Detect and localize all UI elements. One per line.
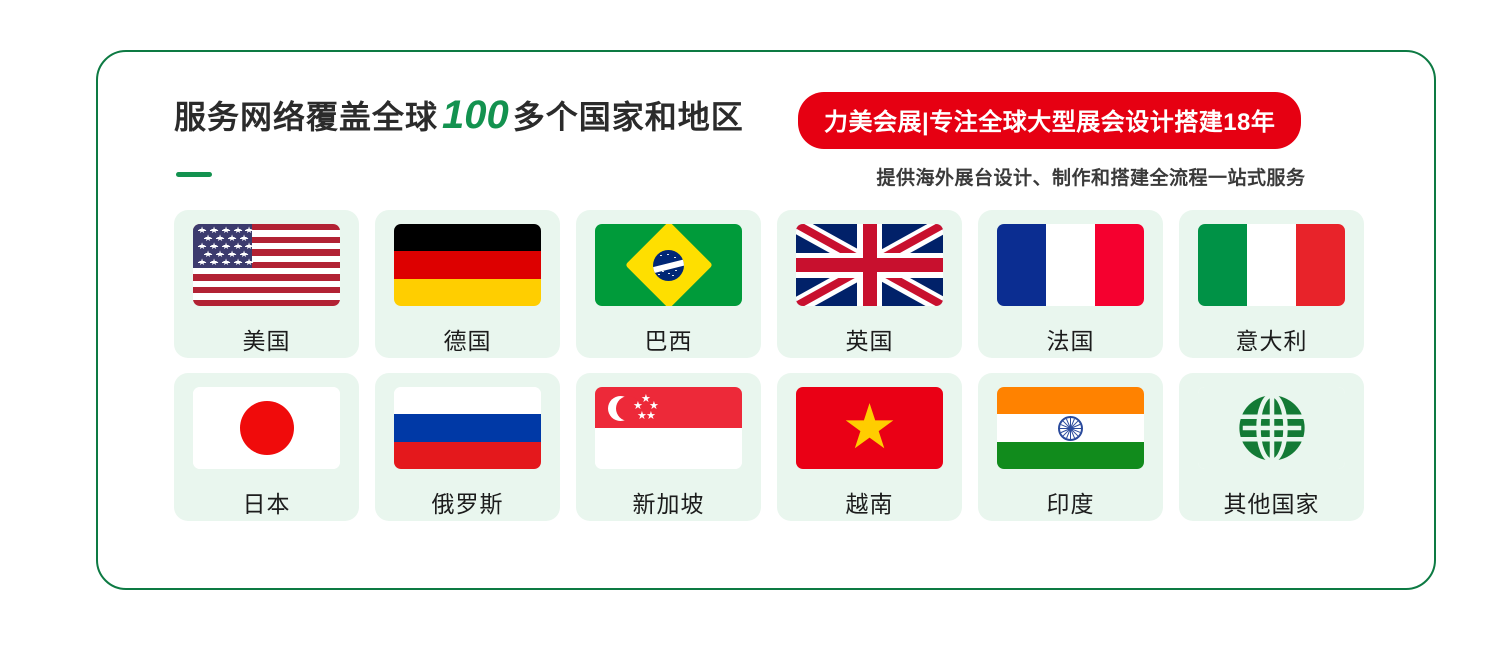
flag-india-icon (997, 387, 1144, 469)
info-panel: 服务网络覆盖全球100多个国家和地区 力美会展|专注全球大型展会设计搭建18年 … (96, 50, 1436, 590)
headline-prefix: 服务网络覆盖全球 (174, 99, 438, 135)
country-label: 巴西 (645, 322, 693, 356)
country-label: 德国 (444, 322, 492, 356)
panel-header: 服务网络覆盖全球100多个国家和地区 力美会展|专注全球大型展会设计搭建18年 … (98, 52, 1434, 202)
country-card-france[interactable]: 法国 (978, 210, 1163, 358)
accent-underline (176, 172, 212, 177)
globe-icon (1198, 387, 1345, 469)
country-label: 印度 (1047, 485, 1095, 519)
country-label: 日本 (243, 485, 291, 519)
flag-japan-icon (193, 387, 340, 469)
flag-italy-icon (1198, 224, 1345, 306)
country-card-brazil[interactable]: 巴西 (576, 210, 761, 358)
country-card-vietnam[interactable]: ★ 越南 (777, 373, 962, 521)
flag-vietnam-icon: ★ (796, 387, 943, 469)
flag-russia-icon (394, 387, 541, 469)
flag-uk-icon (796, 224, 943, 306)
flag-usa-icon: ★★★★★ ★★★★ ★★★★★ ★★★★ ★★★★★ (193, 224, 340, 306)
country-card-japan[interactable]: 日本 (174, 373, 359, 521)
headline-suffix: 多个国家和地区 (513, 99, 744, 135)
headline-number: 100 (438, 93, 513, 137)
country-label: 法国 (1047, 322, 1095, 356)
country-label: 新加坡 (633, 485, 705, 519)
flag-brazil-icon (595, 224, 742, 306)
flag-singapore-icon: ★ ★ ★ ★ ★ (595, 387, 742, 469)
flag-france-icon (997, 224, 1144, 306)
country-card-usa[interactable]: ★★★★★ ★★★★ ★★★★★ ★★★★ ★★★★★ 美国 (174, 210, 359, 358)
country-card-singapore[interactable]: ★ ★ ★ ★ ★ 新加坡 (576, 373, 761, 521)
country-label: 意大利 (1236, 322, 1308, 356)
country-label: 英国 (846, 322, 894, 356)
country-card-italy[interactable]: 意大利 (1179, 210, 1364, 358)
promo-block: 力美会展|专注全球大型展会设计搭建18年 提供海外展台设计、制作和搭建全流程一站… (798, 92, 1378, 190)
country-card-uk[interactable]: 英国 (777, 210, 962, 358)
country-label: 美国 (243, 322, 291, 356)
country-card-germany[interactable]: 德国 (375, 210, 560, 358)
page-title: 服务网络覆盖全球100多个国家和地区 (174, 92, 744, 138)
country-card-india[interactable]: 印度 (978, 373, 1163, 521)
country-card-russia[interactable]: 俄罗斯 (375, 373, 560, 521)
flag-germany-icon (394, 224, 541, 306)
status-badge: 力美会展|专注全球大型展会设计搭建18年 (798, 92, 1301, 149)
usa-canton: ★★★★★ ★★★★ ★★★★★ ★★★★ ★★★★★ (193, 224, 252, 268)
country-label: 其他国家 (1224, 485, 1320, 519)
promo-subtitle: 提供海外展台设计、制作和搭建全流程一站式服务 (798, 163, 1378, 190)
country-grid: ★★★★★ ★★★★ ★★★★★ ★★★★ ★★★★★ 美国 德国 (174, 210, 1362, 521)
country-card-other[interactable]: 其他国家 (1179, 373, 1364, 521)
country-label: 俄罗斯 (432, 485, 504, 519)
country-label: 越南 (846, 485, 894, 519)
